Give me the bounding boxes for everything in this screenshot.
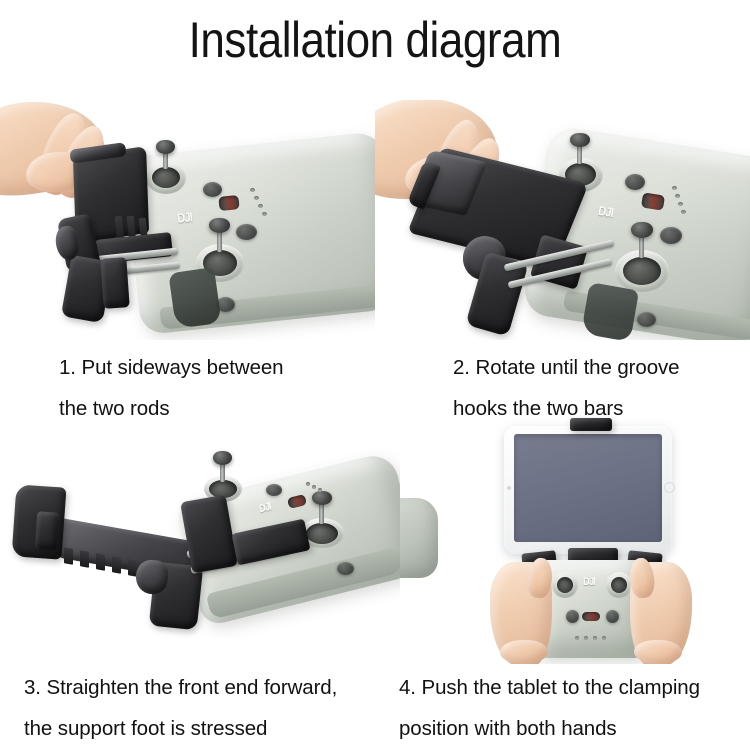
battery-led <box>672 186 677 190</box>
photo-video-button[interactable] <box>236 224 257 240</box>
photo-video-button[interactable] <box>606 610 619 623</box>
step-3-photo: DJI <box>0 420 400 665</box>
step-2-caption-line-2: hooks the two bars <box>453 388 679 429</box>
tablet-home-button[interactable] <box>664 482 675 493</box>
record-button[interactable] <box>337 562 354 575</box>
battery-led <box>312 485 316 489</box>
step-4-scene: DJI <box>400 412 750 664</box>
finger <box>634 640 682 664</box>
step-4-caption-line-2: position with both hands <box>399 708 700 749</box>
battery-led <box>258 204 263 208</box>
photo-video-button[interactable] <box>660 227 682 244</box>
flight-mode-switch[interactable] <box>582 612 600 621</box>
finger <box>500 640 548 664</box>
carrying-case <box>400 498 438 578</box>
battery-led <box>575 636 579 640</box>
dji-logo: DJI <box>597 203 614 220</box>
dji-logo: DJI <box>177 209 193 225</box>
step-2-scene: DJI <box>375 100 750 340</box>
right-joystick-knob[interactable] <box>209 218 230 233</box>
step-3-caption: 3. Straighten the front end forward, the… <box>24 667 337 749</box>
tablet-holder-groove <box>35 511 60 550</box>
holder-fin <box>64 547 73 565</box>
power-button[interactable] <box>266 484 282 496</box>
battery-led <box>593 636 597 640</box>
step-2-photo: DJI <box>375 100 750 340</box>
step-1-photo: DJI <box>0 100 375 340</box>
step-4-photo: DJI <box>400 412 750 664</box>
dji-logo: DJI <box>583 576 595 588</box>
flight-mode-switch[interactable] <box>218 195 239 211</box>
left-joystick-knob[interactable] <box>213 451 232 465</box>
power-button[interactable] <box>203 182 222 197</box>
battery-led <box>602 636 606 640</box>
power-button[interactable] <box>625 174 645 190</box>
tablet-screen[interactable] <box>514 434 662 542</box>
step-3-scene: DJI <box>0 420 400 665</box>
right-joystick-knob[interactable] <box>631 222 653 238</box>
left-joystick-inner <box>152 167 180 188</box>
left-joystick-knob[interactable] <box>570 133 590 147</box>
page-title: Installation diagram <box>45 8 705 72</box>
step-1-caption: 1. Put sideways between the two rods <box>59 347 283 429</box>
step-4-caption: 4. Push the tablet to the clamping posit… <box>399 667 700 749</box>
right-joystick-inner <box>306 523 338 544</box>
step-2-caption-line-1: 2. Rotate until the groove <box>453 347 679 388</box>
battery-led <box>306 482 310 486</box>
step-4-caption-line-1: 4. Push the tablet to the clamping <box>399 667 700 708</box>
holder-side-bracket <box>100 257 129 309</box>
battery-led <box>254 196 259 200</box>
step-1-scene: DJI <box>0 100 375 340</box>
step-3-caption-line-2: the support foot is stressed <box>24 708 337 749</box>
right-joystick-knob[interactable] <box>312 491 332 505</box>
right-joystick-inner[interactable] <box>611 577 627 593</box>
holder-fin <box>80 550 89 568</box>
holder-fin <box>112 556 121 574</box>
controller-grip <box>581 282 639 340</box>
flight-mode-switch[interactable] <box>641 192 665 210</box>
power-button[interactable] <box>566 610 579 623</box>
battery-led <box>584 636 588 640</box>
left-joystick-knob[interactable] <box>156 140 175 154</box>
right-joystick-inner <box>623 257 661 285</box>
step-3-caption-line-1: 3. Straighten the front end forward, <box>24 667 337 708</box>
battery-led <box>678 202 683 206</box>
battery-led <box>262 212 267 216</box>
step-1-caption-line-1: 1. Put sideways between <box>59 347 283 388</box>
holder-fin <box>96 553 105 571</box>
battery-led <box>250 188 255 192</box>
tablet-camera <box>507 486 511 490</box>
battery-led <box>675 194 680 198</box>
battery-led <box>681 210 686 214</box>
record-button[interactable] <box>637 312 656 327</box>
battery-led <box>318 488 322 492</box>
step-2-caption: 2. Rotate until the groove hooks the two… <box>453 347 679 429</box>
controller-grip <box>168 267 221 329</box>
step-1-caption-line-2: the two rods <box>59 388 283 429</box>
left-joystick-inner[interactable] <box>557 577 573 593</box>
